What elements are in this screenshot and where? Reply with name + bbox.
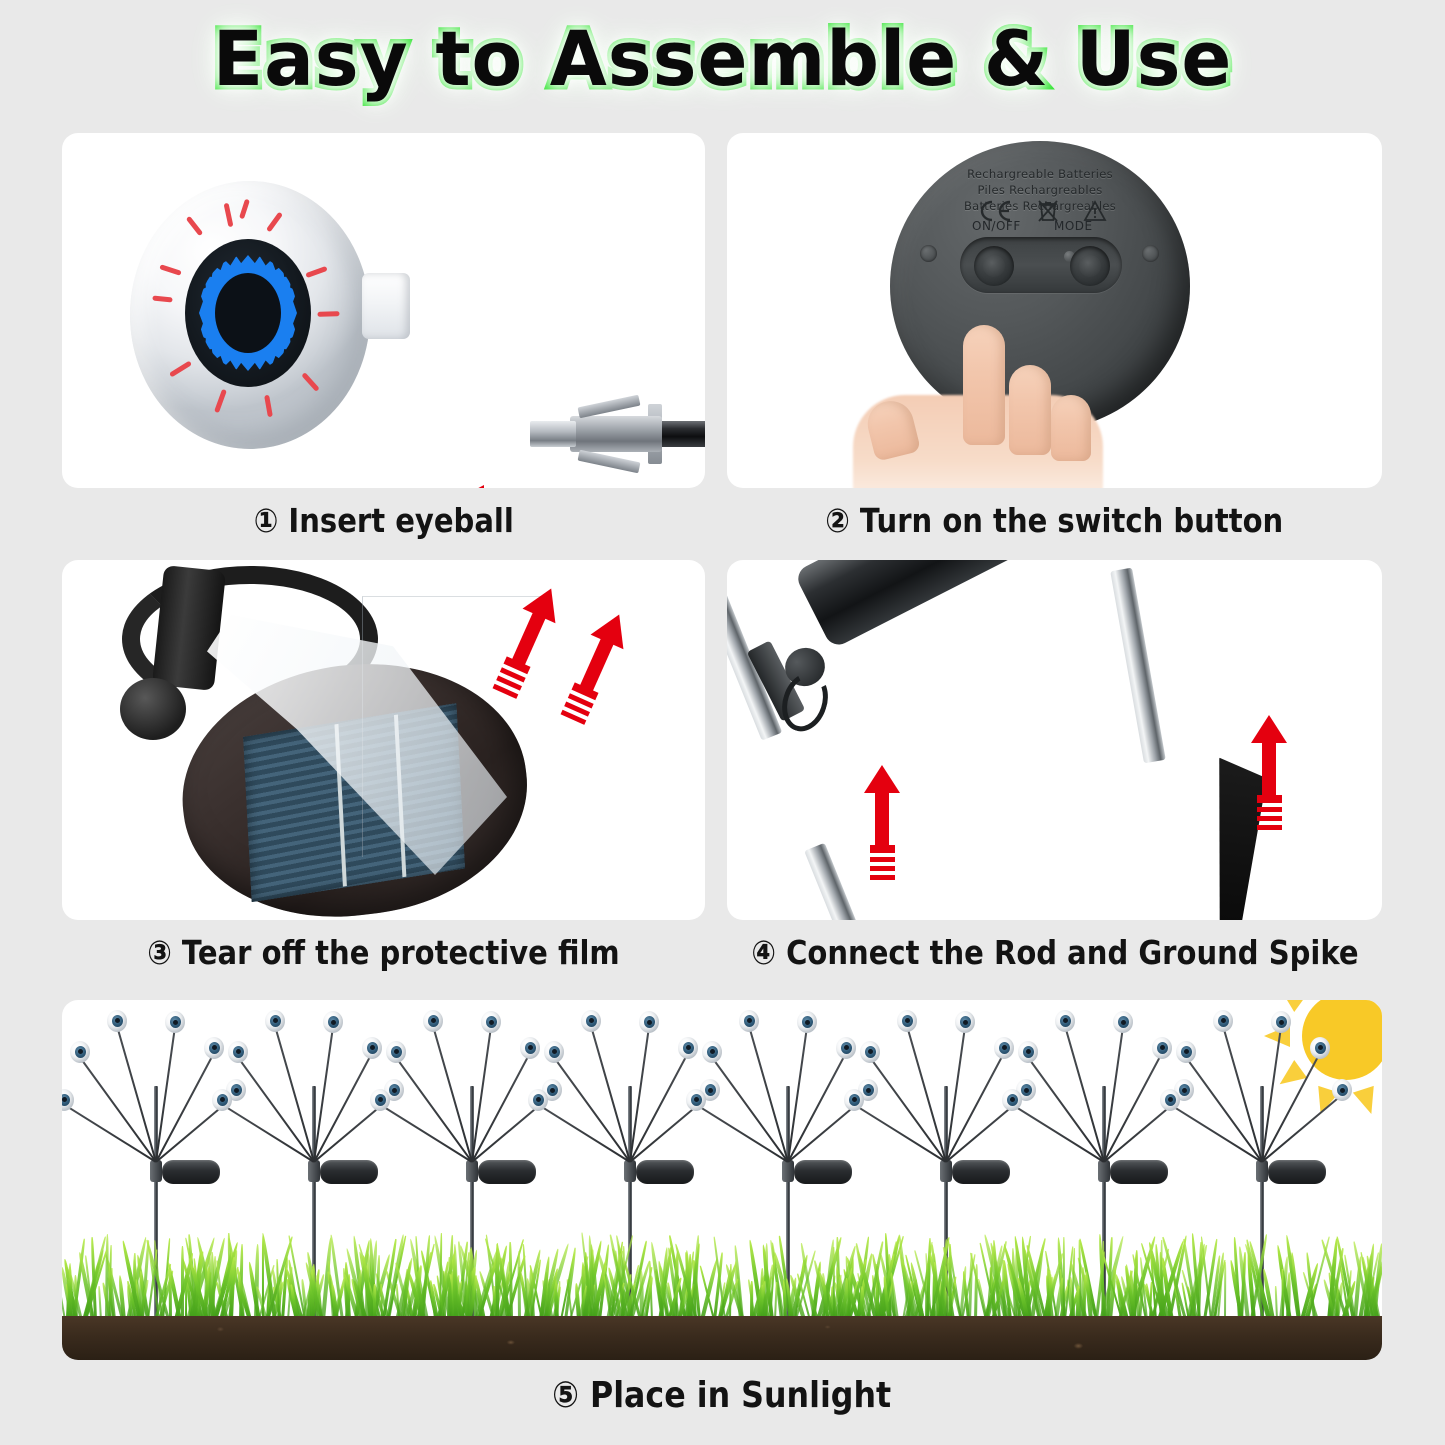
bulb-pupil <box>1026 1049 1031 1054</box>
bulb-iris <box>586 1015 597 1027</box>
bulb-pupil <box>686 1045 691 1050</box>
cap-screw <box>920 245 937 262</box>
eyeball-bulb <box>544 1041 564 1063</box>
eyeball-vein <box>152 295 172 302</box>
step-1-caption-text: ① Insert eyeball <box>253 501 513 540</box>
lamp-body <box>793 560 1099 649</box>
stake-clamp <box>308 1160 320 1182</box>
bulb-iris <box>849 1094 860 1106</box>
bulb-pupil <box>212 1045 217 1050</box>
bulb-pupil <box>552 1049 557 1054</box>
stake-clamp <box>940 1160 952 1182</box>
eyeball-bulb <box>265 1010 285 1032</box>
bulb-iris <box>428 1015 439 1027</box>
eyeball-bulb <box>62 1089 74 1111</box>
bulb-iris <box>75 1046 86 1058</box>
step-3-image-panel <box>62 560 705 920</box>
bulb-iris <box>1023 1046 1034 1058</box>
sun-ray <box>1273 1000 1307 1012</box>
bulb-iris <box>902 1015 913 1027</box>
stake-solar-panel <box>1110 1160 1168 1184</box>
bulb-iris <box>683 1042 694 1054</box>
motion-dash <box>1257 816 1282 821</box>
cap-screw <box>1142 245 1159 262</box>
eyeball-vein <box>317 311 339 317</box>
bulb-iris <box>375 1094 386 1106</box>
bulb-pupil <box>1168 1097 1173 1102</box>
bulb-pupil <box>331 1020 336 1025</box>
bulb-pupil <box>62 1097 67 1102</box>
bulb-pupil <box>220 1097 225 1102</box>
bulb-iris <box>270 1015 281 1027</box>
bulb-pupil <box>173 1020 178 1025</box>
eyeball-bulb <box>1018 1041 1038 1063</box>
grass-blade <box>98 1286 102 1320</box>
bulb-pupil <box>1182 1088 1187 1093</box>
eyeball-bulb <box>639 1011 659 1033</box>
bulb-pupil <box>747 1018 752 1023</box>
eyeball-bulb <box>204 1037 224 1059</box>
bulb-pupil <box>1010 1097 1015 1102</box>
eyeball-bulb <box>739 1010 759 1032</box>
stake-solar-panel <box>636 1160 694 1184</box>
connector-barb <box>578 395 641 419</box>
bulb-stem <box>1261 1094 1342 1162</box>
stake-clamp <box>1098 1160 1110 1182</box>
garden-scene <box>62 1000 1382 1360</box>
bulb-pupil <box>589 1018 594 1023</box>
bulb-pupil <box>370 1045 375 1050</box>
step-4-image-panel <box>727 560 1382 920</box>
eyeball-bulb <box>520 1037 540 1059</box>
stake-clamp <box>1256 1160 1268 1182</box>
bulb-pupil <box>852 1097 857 1102</box>
bulb-iris <box>1179 1084 1190 1096</box>
bulb-iris <box>486 1016 497 1028</box>
bulb-iris <box>391 1046 402 1058</box>
bulb-iris <box>691 1094 702 1106</box>
mode-button-cap <box>1079 255 1101 277</box>
ground-spike <box>1187 758 1269 920</box>
eyeball-vein <box>169 361 192 378</box>
bulb-iris <box>960 1016 971 1028</box>
bulb-pupil <box>378 1097 383 1102</box>
mode-label: MODE <box>1054 219 1093 233</box>
eyeball-bulb <box>481 1011 501 1033</box>
eyeball-bulb <box>1152 1037 1172 1059</box>
motion-dash <box>1257 825 1282 830</box>
eyeball-bulb <box>1055 1010 1075 1032</box>
device-text-line-1: Rechargreable Batteries <box>890 167 1190 181</box>
eyeball-bulb <box>1310 1037 1330 1059</box>
grass <box>62 1228 1382 1320</box>
bulb-pupil <box>963 1020 968 1025</box>
eyeball-vein <box>214 389 227 413</box>
grass-blade <box>860 1286 865 1320</box>
stake-solar-panel <box>794 1160 852 1184</box>
lamp-neck <box>152 565 226 691</box>
eyeball-bulb <box>1213 1010 1233 1032</box>
bulb-iris <box>231 1084 242 1096</box>
on-off-label: ON/OFF <box>972 219 1021 233</box>
bulb-pupil <box>710 1049 715 1054</box>
mode-button[interactable] <box>1070 246 1110 286</box>
bulb-pupil <box>273 1018 278 1023</box>
soil <box>62 1316 1382 1360</box>
bulb-iris <box>367 1042 378 1054</box>
bulb-pupil <box>868 1049 873 1054</box>
middle-finger <box>1009 365 1051 455</box>
stake-clamp <box>466 1160 478 1182</box>
eyeball-bulb <box>1176 1041 1196 1063</box>
grass-blade <box>844 1278 848 1320</box>
on-off-button[interactable] <box>974 246 1014 286</box>
bulb-pupil <box>394 1049 399 1054</box>
bulb-iris <box>549 1046 560 1058</box>
bulb-iris <box>1337 1084 1348 1096</box>
lower-rod <box>804 843 896 920</box>
eyeball-bulb <box>386 1041 406 1063</box>
eyeball-bulb <box>323 1011 343 1033</box>
bulb-pupil <box>234 1088 239 1093</box>
bulb-pupil <box>528 1045 533 1050</box>
eyeball-graphic <box>130 181 370 449</box>
bulb-iris <box>389 1084 400 1096</box>
bulb-iris <box>1218 1015 1229 1027</box>
bulb-pupil <box>115 1018 120 1023</box>
bulb-iris <box>1181 1046 1192 1058</box>
motion-dash <box>870 875 895 880</box>
bulb-pupil <box>844 1045 849 1050</box>
eyeball-bulb <box>165 1011 185 1033</box>
bulb-pupil <box>78 1049 83 1054</box>
step-3-caption-text: ③ Tear off the protective film <box>147 933 619 972</box>
eyeball-bulb <box>423 1010 443 1032</box>
step-1-caption: ① Insert eyeball <box>62 492 705 548</box>
eyeball-vein <box>239 199 250 220</box>
stake-solar-panel <box>478 1160 536 1184</box>
bulb-iris <box>170 1016 181 1028</box>
bulb-pupil <box>905 1018 910 1023</box>
index-finger <box>963 325 1005 445</box>
grass-blade <box>380 1284 383 1320</box>
bulb-pupil <box>1318 1045 1323 1050</box>
bulb-pupil <box>1221 1018 1226 1023</box>
motion-dash <box>870 857 895 862</box>
connector-barb <box>578 450 641 474</box>
eyeball-bulb <box>678 1037 698 1059</box>
bulb-pupil <box>1063 1018 1068 1023</box>
eyeball-vein <box>186 216 203 236</box>
bulb-pupil <box>1160 1045 1165 1050</box>
bulb-iris <box>744 1015 755 1027</box>
eyeball-bulb <box>70 1041 90 1063</box>
bulb-pupil <box>1121 1020 1126 1025</box>
grass-blade <box>968 1253 973 1320</box>
bulb-pupil <box>694 1097 699 1102</box>
eyeball-vein <box>224 203 234 228</box>
bulb-pupil <box>236 1049 241 1054</box>
bulb-iris <box>1165 1094 1176 1106</box>
bulb-iris <box>841 1042 852 1054</box>
stake-solar-panel <box>320 1160 378 1184</box>
bulb-iris <box>1007 1094 1018 1106</box>
connector-body <box>570 416 662 452</box>
step-5-image-panel <box>62 1000 1382 1360</box>
bulb-iris <box>1315 1042 1326 1054</box>
bulb-pupil <box>1184 1049 1189 1054</box>
bulb-pupil <box>536 1097 541 1102</box>
on-off-button-cap <box>983 255 1005 277</box>
stake-clamp <box>782 1160 794 1182</box>
bulb-iris <box>547 1084 558 1096</box>
page-title: Easy to Assemble & Use <box>213 14 1233 103</box>
grass-blade <box>169 1269 172 1320</box>
bulb-pupil <box>1024 1088 1029 1093</box>
stake-clamp <box>150 1160 162 1182</box>
bulb-pupil <box>431 1018 436 1023</box>
lamp-hinge <box>120 678 186 740</box>
grass-blade <box>1275 1286 1278 1320</box>
bulb-stem <box>79 1056 157 1162</box>
step-2-caption-text: ② Turn on the switch button <box>825 501 1283 540</box>
ring-finger <box>1051 395 1091 461</box>
step-1-image-panel <box>62 133 705 488</box>
bulb-pupil <box>489 1020 494 1025</box>
eyeball-vein <box>305 266 327 278</box>
grass-blade <box>517 1251 521 1320</box>
eyeball-vein <box>266 212 283 233</box>
bulb-iris <box>707 1046 718 1058</box>
bulb-iris <box>62 1094 70 1106</box>
eyeball-bulb <box>897 1010 917 1032</box>
bulb-pupil <box>550 1088 555 1093</box>
bulb-iris <box>1118 1016 1129 1028</box>
eyeball-vein <box>159 264 181 276</box>
motion-dash <box>870 866 895 871</box>
eyeball-vein <box>301 372 319 392</box>
bulb-iris <box>112 1015 123 1027</box>
bulb-pupil <box>647 1020 652 1025</box>
bulb-pupil <box>866 1088 871 1093</box>
bulb-iris <box>1276 1016 1287 1028</box>
bulb-iris <box>1157 1042 1168 1054</box>
bulb-iris <box>863 1084 874 1096</box>
step-4-caption: ④ Connect the Rod and Ground Spike <box>727 924 1382 980</box>
button-recess <box>960 237 1122 293</box>
bulb-iris <box>705 1084 716 1096</box>
grass-blade <box>1224 1262 1227 1320</box>
stake-clamp <box>624 1160 636 1182</box>
eyeball-bulb <box>702 1041 722 1063</box>
connector-tip <box>530 421 576 447</box>
eyeball-bulb <box>955 1011 975 1033</box>
bulb-iris <box>999 1042 1010 1054</box>
bulb-iris <box>533 1094 544 1106</box>
eyeball-bulb <box>228 1041 248 1063</box>
eyeball-bulb <box>1113 1011 1133 1033</box>
stake-solar-panel <box>162 1160 220 1184</box>
step-5-caption: ⑤ Place in Sunlight <box>62 1366 1382 1424</box>
ground-rod <box>1110 568 1166 764</box>
bulb-pupil <box>1002 1045 1007 1050</box>
stake-solar-panel <box>952 1160 1010 1184</box>
step-4-caption-text: ④ Connect the Rod and Ground Spike <box>751 933 1358 972</box>
bulb-iris <box>1060 1015 1071 1027</box>
bulb-iris <box>209 1042 220 1054</box>
step-2-image-panel: Rechargreable Batteries Piles Rechargrea… <box>727 133 1382 488</box>
bulb-iris <box>328 1016 339 1028</box>
stake-solar-panel <box>1268 1160 1326 1184</box>
bulb-iris <box>802 1016 813 1028</box>
eyeball-bulb <box>994 1037 1014 1059</box>
bulb-pupil <box>805 1020 810 1025</box>
bulb-pupil <box>708 1088 713 1093</box>
bulb-pupil <box>1279 1020 1284 1025</box>
bulb-iris <box>233 1046 244 1058</box>
connector-rod <box>658 421 705 447</box>
bulb-iris <box>644 1016 655 1028</box>
bulb-iris <box>865 1046 876 1058</box>
bulb-pupil <box>392 1088 397 1093</box>
eyeball-bulb <box>107 1010 127 1032</box>
motion-dash <box>1257 807 1282 812</box>
eyeball-bulb <box>581 1010 601 1032</box>
step-2-caption: ② Turn on the switch button <box>727 492 1382 548</box>
eyeball-iris <box>185 239 311 387</box>
step-3-caption: ③ Tear off the protective film <box>62 924 705 980</box>
eyeball-bulb <box>797 1011 817 1033</box>
bulb-iris <box>217 1094 228 1106</box>
eyeball-vein <box>264 395 273 418</box>
eyeball-bulb <box>836 1037 856 1059</box>
bulb-pupil <box>1340 1088 1345 1093</box>
title-bar: Easy to Assemble & Use <box>0 8 1445 108</box>
eyeball-bulb <box>362 1037 382 1059</box>
eyeball-bulb <box>860 1041 880 1063</box>
bulb-iris <box>525 1042 536 1054</box>
eyeball-pupil <box>215 273 281 353</box>
bulb-iris <box>1021 1084 1032 1096</box>
eyeball-bulb <box>1332 1079 1352 1101</box>
step-5-caption-text: ⑤ Place in Sunlight <box>552 1375 891 1416</box>
eyeball-socket-stem <box>362 273 410 339</box>
